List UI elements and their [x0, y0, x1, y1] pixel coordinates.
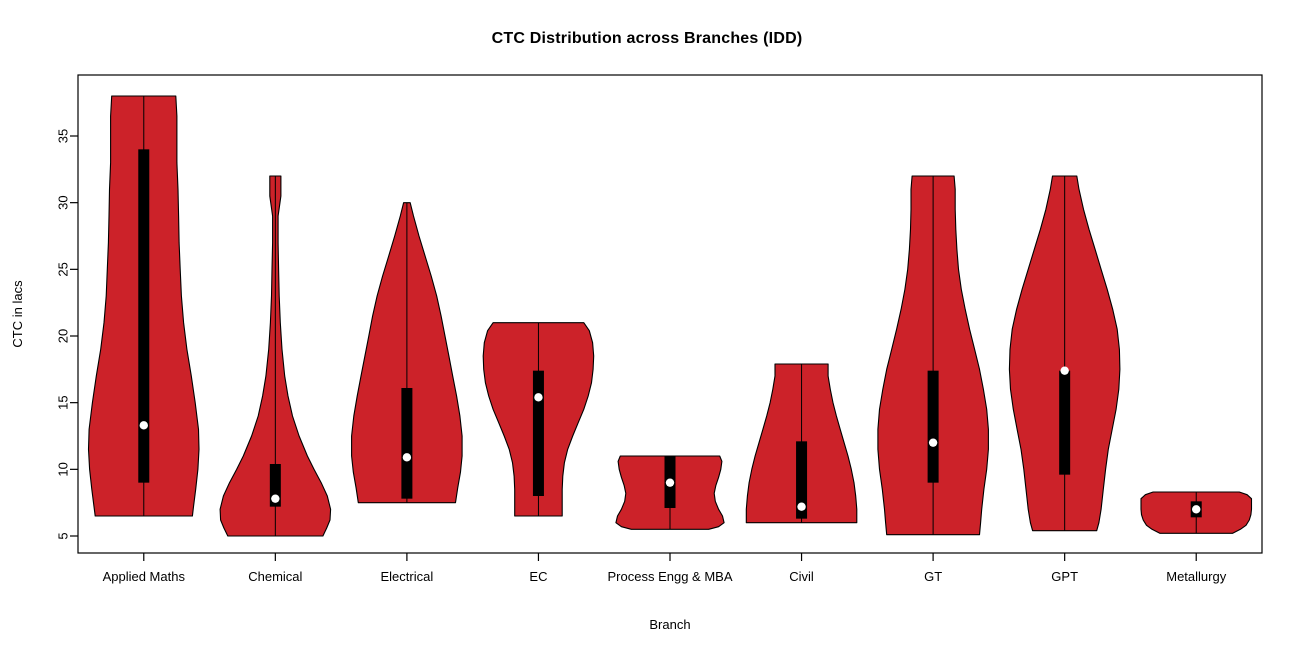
violin-series-group: [89, 96, 1252, 536]
iqr-box: [1059, 371, 1070, 475]
y-axis-title: CTC in lacs: [10, 280, 25, 348]
median-point: [1060, 366, 1068, 374]
x-tick-label: Civil: [789, 569, 814, 584]
x-tick-label: GT: [924, 569, 942, 584]
x-tick-label: EC: [529, 569, 547, 584]
violin-chemical[interactable]: [220, 176, 331, 536]
y-tick-label: 10: [55, 462, 70, 476]
violin-gpt[interactable]: [1009, 176, 1120, 531]
median-point: [403, 453, 411, 461]
violin-plot-figure: 5101520253035 Applied MathsChemicalElect…: [0, 0, 1294, 653]
x-axis-category-labels: Applied MathsChemicalElectricalECProcess…: [103, 569, 1227, 584]
y-tick-label: 25: [55, 262, 70, 276]
violin-ec[interactable]: [483, 323, 594, 516]
y-tick-label: 5: [55, 532, 70, 539]
y-axis-ticks: [70, 136, 78, 536]
violin-chart-page: CTC Distribution across Branches (IDD) 5…: [0, 0, 1294, 653]
x-tick-label: Electrical: [381, 569, 434, 584]
median-point: [271, 494, 279, 502]
iqr-box: [928, 371, 939, 483]
violin-process-engg-mba[interactable]: [616, 456, 724, 529]
y-tick-label: 30: [55, 195, 70, 209]
violin-civil[interactable]: [746, 364, 857, 523]
iqr-box: [533, 371, 544, 496]
violin-electrical[interactable]: [352, 203, 463, 503]
x-axis-ticks: [144, 553, 1196, 561]
violin-gt[interactable]: [878, 176, 989, 535]
median-point: [797, 502, 805, 510]
median-point: [666, 478, 674, 486]
median-point: [929, 438, 937, 446]
y-tick-label: 15: [55, 395, 70, 409]
x-tick-label: Process Engg & MBA: [608, 569, 733, 584]
y-tick-label: 20: [55, 329, 70, 343]
x-axis-title: Branch: [649, 617, 690, 632]
median-point: [140, 421, 148, 429]
iqr-box: [138, 149, 149, 482]
violin-metallurgy[interactable]: [1141, 492, 1252, 533]
x-tick-label: Applied Maths: [103, 569, 186, 584]
iqr-box: [401, 388, 412, 499]
y-tick-label: 35: [55, 129, 70, 143]
x-tick-label: Chemical: [248, 569, 302, 584]
median-point: [534, 393, 542, 401]
median-point: [1192, 505, 1200, 513]
violin-applied-maths[interactable]: [89, 96, 200, 516]
x-tick-label: GPT: [1051, 569, 1078, 584]
x-tick-label: Metallurgy: [1166, 569, 1226, 584]
y-axis-tick-labels: 5101520253035: [55, 129, 70, 540]
